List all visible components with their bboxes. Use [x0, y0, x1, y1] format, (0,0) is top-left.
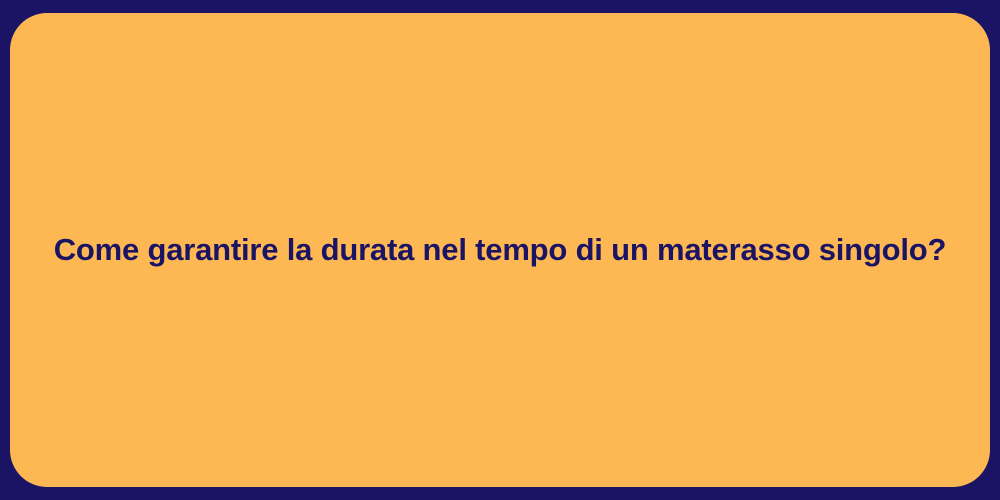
- banner-frame: Come garantire la durata nel tempo di un…: [0, 0, 1000, 500]
- banner-panel: Come garantire la durata nel tempo di un…: [10, 13, 990, 487]
- page-title: Come garantire la durata nel tempo di un…: [44, 231, 956, 270]
